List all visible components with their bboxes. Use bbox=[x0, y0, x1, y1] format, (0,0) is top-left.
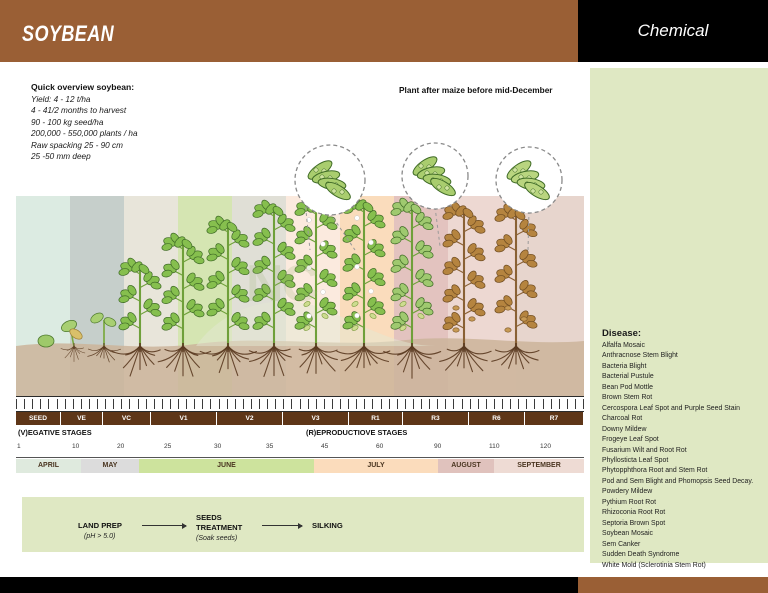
ruler-tick bbox=[389, 399, 390, 409]
reproductive-stages-label: (R)EPRODUCTIOVE STAGES bbox=[306, 428, 407, 437]
stage-cell-vc[interactable]: VC bbox=[103, 412, 151, 425]
workflow-step-treatment: TREATMENT bbox=[196, 523, 242, 532]
ruler-tick bbox=[502, 399, 503, 409]
disease-item: Brown Stem Rot bbox=[602, 393, 768, 403]
ruler-tick bbox=[65, 399, 66, 409]
month-cell-may[interactable]: MAY bbox=[81, 459, 139, 473]
disease-item: Sem Canker bbox=[602, 540, 768, 550]
disease-item: Sudden Death Syndrome bbox=[602, 550, 768, 560]
quick-overview: Quick overview soybean: Yield: 4 - 12 t/… bbox=[31, 82, 138, 163]
ruler-tick bbox=[251, 399, 252, 409]
ruler-tick bbox=[453, 399, 454, 409]
overview-line: 4 - 41/2 months to harvest bbox=[31, 105, 138, 117]
ruler-tick bbox=[138, 399, 139, 409]
scale-tick-label: 90 bbox=[434, 443, 441, 450]
scale-tick-label: 1 bbox=[17, 443, 21, 450]
stage-cell-seed[interactable]: SEED bbox=[16, 412, 61, 425]
ruler-tick bbox=[89, 399, 90, 409]
disease-item: Bean Pod Mottle bbox=[602, 383, 768, 393]
disease-item: Anthracnose Stem Blight bbox=[602, 351, 768, 361]
ruler-tick bbox=[259, 399, 260, 409]
month-cell-august[interactable]: AUGUST bbox=[438, 459, 494, 473]
stage-cell-r1[interactable]: R1 bbox=[349, 412, 403, 425]
ruler-tick bbox=[81, 399, 82, 409]
ruler-tick bbox=[364, 399, 365, 409]
month-cell-september[interactable]: SEPTEMBER bbox=[494, 459, 584, 473]
ruler-tick bbox=[429, 399, 430, 409]
ruler-tick bbox=[32, 399, 33, 409]
disease-item: Downy Mildew bbox=[602, 425, 768, 435]
disease-item: Pythium Root Rot bbox=[602, 498, 768, 508]
ruler-tick bbox=[413, 399, 414, 409]
disease-item: Pod and Sem Blight and Phomopsis Seed De… bbox=[602, 477, 768, 487]
ruler-tick bbox=[202, 399, 203, 409]
ruler-tick bbox=[162, 399, 163, 409]
day-scale: 11020253035456090110120 bbox=[16, 443, 584, 458]
disease-item: Charcoal Rot bbox=[602, 414, 768, 424]
ruler-tick bbox=[178, 399, 179, 409]
ruler-tick bbox=[526, 399, 527, 409]
stage-cell-v2[interactable]: V2 bbox=[217, 412, 283, 425]
ruler-tick bbox=[243, 399, 244, 409]
overview-line: 200,000 - 550,000 plants / ha bbox=[31, 128, 138, 140]
disease-heading: Disease: bbox=[602, 328, 641, 339]
overview-line: 90 - 100 kg seed/ha bbox=[31, 117, 138, 129]
disease-item: Phyllosticta Leaf Spot bbox=[602, 456, 768, 466]
scale-tick-label: 120 bbox=[540, 443, 551, 450]
ruler-tick bbox=[470, 399, 471, 409]
ruler-tick bbox=[300, 399, 301, 409]
ruler-tick bbox=[543, 399, 544, 409]
planting-note: Plant after maize before mid-December bbox=[399, 85, 553, 95]
ruler-tick bbox=[275, 399, 276, 409]
overview-lines: Yield: 4 - 12 t/ha4 - 41/2 months to har… bbox=[31, 94, 138, 164]
ruler-tick bbox=[405, 399, 406, 409]
ruler-tick bbox=[16, 399, 17, 409]
ruler-tick bbox=[291, 399, 292, 409]
workflow-step-land-prep-sub: (pH > 5.0) bbox=[84, 533, 115, 540]
ruler-tick bbox=[381, 399, 382, 409]
disease-item: Cercospora Leaf Spot and Purple Seed Sta… bbox=[602, 404, 768, 414]
workflow-step-silking: SILKING bbox=[312, 521, 343, 530]
ruler-tick bbox=[437, 399, 438, 409]
ruler-tick bbox=[186, 399, 187, 409]
disease-item: Rhizoconia Root Rot bbox=[602, 508, 768, 518]
ruler-tick bbox=[308, 399, 309, 409]
ruler-tick bbox=[567, 399, 568, 409]
ruler-tick bbox=[397, 399, 398, 409]
arrow-1-icon bbox=[142, 525, 186, 526]
overview-line: Raw spacking 25 - 90 cm bbox=[31, 140, 138, 152]
stage-cell-r3[interactable]: R3 bbox=[403, 412, 469, 425]
growth-stage-illustration: NC bbox=[16, 196, 584, 396]
plant-seed bbox=[38, 335, 54, 347]
ruler-tick bbox=[510, 399, 511, 409]
disease-item: Fusarium Wilt and Root Rot bbox=[602, 446, 768, 456]
section-label-chemical: Chemical bbox=[578, 21, 768, 41]
soil-and-plants bbox=[16, 196, 584, 396]
ruler-tick bbox=[219, 399, 220, 409]
overview-heading: Quick overview soybean: bbox=[31, 82, 138, 92]
ruler-tick bbox=[73, 399, 74, 409]
page-title: SOYBEAN bbox=[22, 21, 114, 47]
ruler-tick bbox=[210, 399, 211, 409]
disease-item: Septoria Brown Spot bbox=[602, 519, 768, 529]
ruler-tick bbox=[48, 399, 49, 409]
scale-tick-label: 45 bbox=[321, 443, 328, 450]
overview-line: 25 -50 mm deep bbox=[31, 151, 138, 163]
ruler-tick bbox=[105, 399, 106, 409]
month-cell-june[interactable]: JUNE bbox=[139, 459, 314, 473]
ruler-tick bbox=[267, 399, 268, 409]
ruler-tick bbox=[24, 399, 25, 409]
ruler-tick bbox=[121, 399, 122, 409]
scale-tick-label: 60 bbox=[376, 443, 383, 450]
scale-tick-label: 35 bbox=[266, 443, 273, 450]
ruler-tick bbox=[332, 399, 333, 409]
ruler-tick bbox=[227, 399, 228, 409]
ruler-tick bbox=[316, 399, 317, 409]
ruler-tick bbox=[283, 399, 284, 409]
ruler-tick bbox=[146, 399, 147, 409]
scale-tick-label: 30 bbox=[214, 443, 221, 450]
disease-item: Soybean Mosaic bbox=[602, 529, 768, 539]
disease-list: Alfalfa MosaicAnthracnose Stem BlightBac… bbox=[602, 341, 768, 571]
disease-item: Alfalfa Mosaic bbox=[602, 341, 768, 351]
ruler-tick bbox=[551, 399, 552, 409]
workflow-box: LAND PREP (pH > 5.0) SEEDS TREATMENT (So… bbox=[22, 497, 584, 552]
disease-item: Phytopphthora Root and Stem Rot bbox=[602, 466, 768, 476]
ruler-tick bbox=[57, 399, 58, 409]
workflow-step-seeds: SEEDS bbox=[196, 513, 222, 522]
month-bar: APRILMAYJUNEJULYAUGUSTSEPTEMBER bbox=[16, 459, 584, 473]
day-ruler bbox=[16, 396, 584, 412]
stage-cell-r6[interactable]: R6 bbox=[469, 412, 525, 425]
growth-stage-bar: SEEDVEVCV1V2V3R1R3R6R7 bbox=[16, 412, 584, 425]
disease-item: White Mold (Sclerotinia Stem Rot) bbox=[602, 561, 768, 571]
ruler-tick bbox=[154, 399, 155, 409]
ruler-tick bbox=[575, 399, 576, 409]
ruler-tick bbox=[462, 399, 463, 409]
ruler-tick bbox=[518, 399, 519, 409]
stage-cell-v1[interactable]: V1 bbox=[151, 412, 217, 425]
stage-cell-v3[interactable]: V3 bbox=[283, 412, 349, 425]
ruler-tick bbox=[421, 399, 422, 409]
stage-cell-ve[interactable]: VE bbox=[61, 412, 103, 425]
ruler-tick bbox=[129, 399, 130, 409]
ruler-tick bbox=[356, 399, 357, 409]
overview-line: Yield: 4 - 12 t/ha bbox=[31, 94, 138, 106]
ruler-tick bbox=[372, 399, 373, 409]
disease-item: Bacterial Pustule bbox=[602, 372, 768, 382]
ruler-tick bbox=[235, 399, 236, 409]
scale-tick-label: 110 bbox=[489, 443, 500, 450]
disease-item: Bacteria Blight bbox=[602, 362, 768, 372]
disease-item: Frogeye Leaf Spot bbox=[602, 435, 768, 445]
stage-cell-r7[interactable]: R7 bbox=[525, 412, 584, 425]
footer-black-bar bbox=[0, 577, 578, 593]
arrow-2-icon bbox=[262, 525, 302, 526]
ruler-tick bbox=[534, 399, 535, 409]
vegetative-stages-label: (V)EGATIVE STAGES bbox=[18, 428, 92, 437]
ruler-tick bbox=[494, 399, 495, 409]
ruler-tick bbox=[559, 399, 560, 409]
workflow-step-land-prep: LAND PREP bbox=[78, 521, 122, 530]
ruler-tick bbox=[340, 399, 341, 409]
ruler-tick bbox=[194, 399, 195, 409]
ruler-tick bbox=[97, 399, 98, 409]
ruler-tick bbox=[583, 399, 584, 409]
ruler-tick bbox=[324, 399, 325, 409]
ruler-tick bbox=[478, 399, 479, 409]
footer-brown-bar bbox=[578, 577, 768, 593]
month-cell-july[interactable]: JULY bbox=[314, 459, 438, 473]
ruler-tick bbox=[40, 399, 41, 409]
disease-item: Powdery Mildew bbox=[602, 487, 768, 497]
ruler-tick bbox=[348, 399, 349, 409]
scale-tick-label: 10 bbox=[72, 443, 79, 450]
scale-tick-label: 25 bbox=[164, 443, 171, 450]
workflow-step-treatment-sub: (Soak seeds) bbox=[196, 535, 237, 542]
ruler-tick bbox=[445, 399, 446, 409]
ruler-tick bbox=[486, 399, 487, 409]
ruler-tick bbox=[170, 399, 171, 409]
ruler-tick bbox=[113, 399, 114, 409]
scale-tick-label: 20 bbox=[117, 443, 124, 450]
month-cell-april[interactable]: APRIL bbox=[16, 459, 81, 473]
